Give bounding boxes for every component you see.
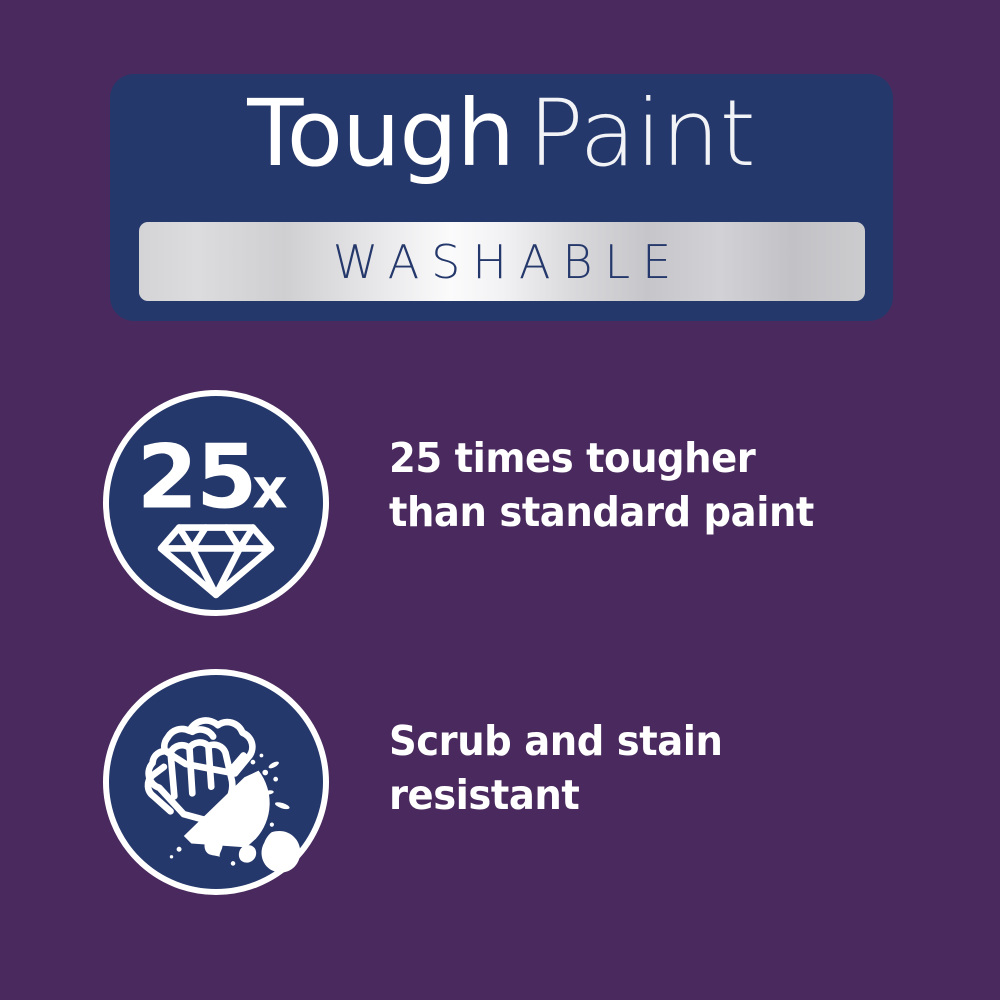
feature-text-line-2: than standard paint <box>389 485 925 539</box>
feature-text-line-2: resistant <box>389 768 925 822</box>
twentyfive-times-diamond-icon: 25 x <box>109 396 323 610</box>
feature-text: Scrub and stain resistant <box>389 714 925 822</box>
brand-badge: ToughPaint WASHABLE <box>110 74 893 321</box>
feature-row: Scrub and stain resistant <box>0 662 1000 902</box>
svg-text:x: x <box>252 457 287 521</box>
brand-name-secondary: Paint <box>528 80 756 187</box>
washable-label: WASHABLE <box>321 239 684 285</box>
promo-graphic: ToughPaint WASHABLE 25 x <box>0 0 1000 1000</box>
feature-text: 25 times tougher than standard paint <box>389 431 925 539</box>
feature-icon-badge: 25 x <box>103 390 329 616</box>
feature-icon-badge <box>103 669 329 895</box>
svg-text:25: 25 <box>137 426 256 529</box>
feature-row: 25 x 25 times tougher than standard pain… <box>0 383 1000 623</box>
washable-strip: WASHABLE <box>139 222 865 301</box>
brand-wordmark: ToughPaint <box>110 88 893 180</box>
hand-sponge-scrub-stain-icon <box>109 675 323 889</box>
feature-text-line-1: Scrub and stain <box>389 714 925 768</box>
feature-text-line-1: 25 times tougher <box>389 431 925 485</box>
brand-name-primary: Tough <box>247 80 514 187</box>
